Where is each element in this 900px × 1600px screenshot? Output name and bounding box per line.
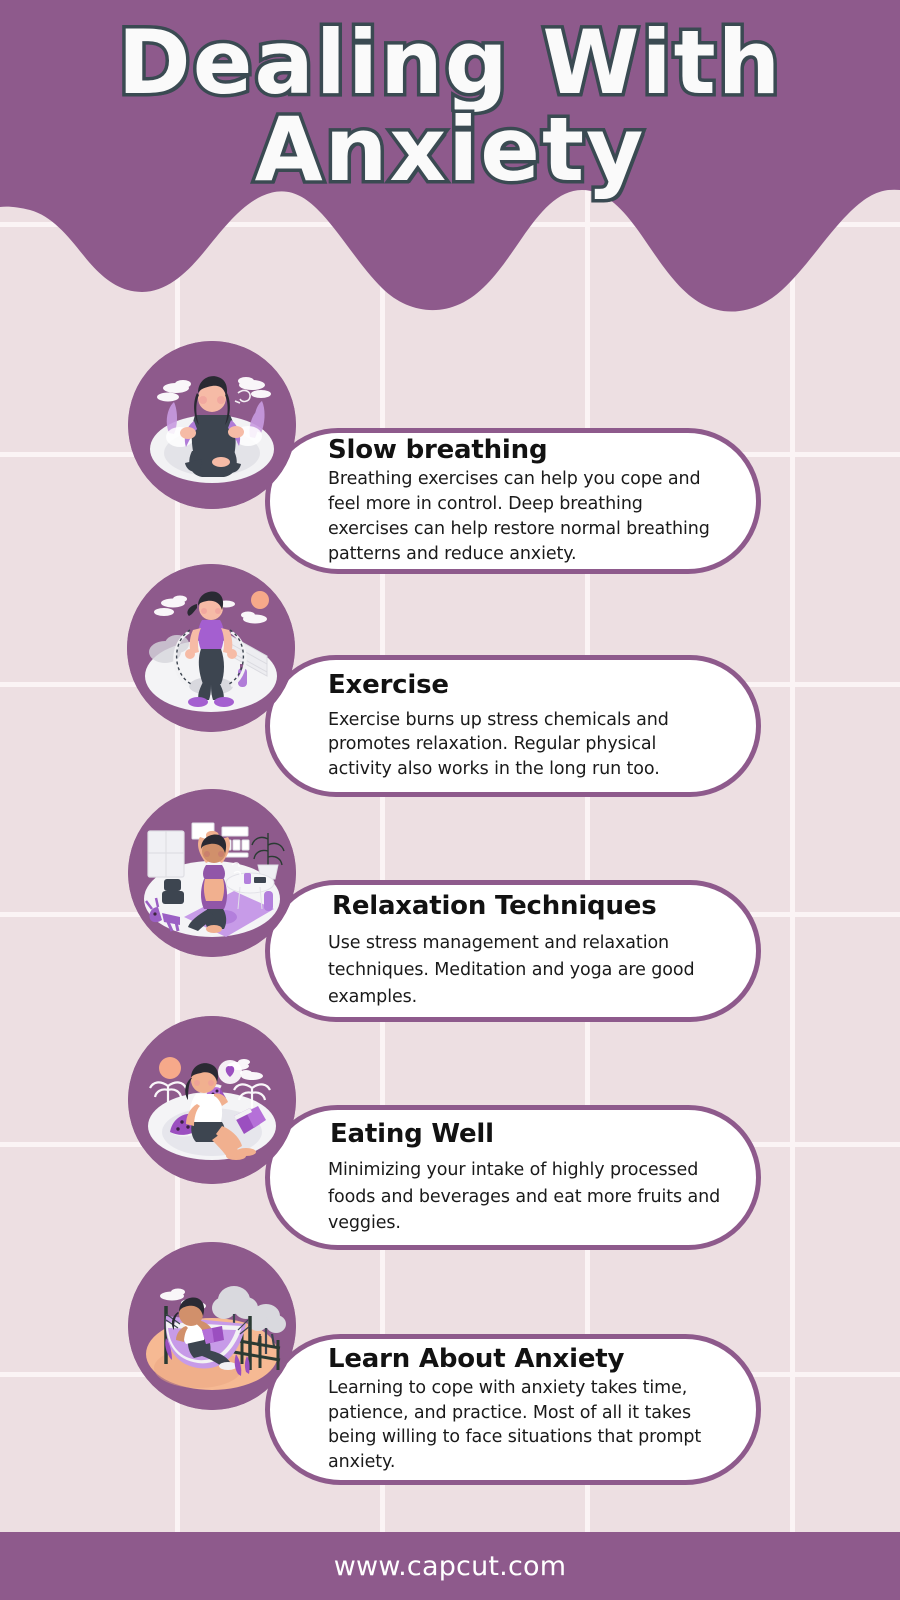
jump-rope-exercise-illustration [127, 564, 295, 732]
tip-card-4-title: Eating Well [330, 1119, 722, 1150]
footer-bar: www.capcut.com [0, 1532, 900, 1600]
tip-card-4-body: Minimizing your intake of highly process… [328, 1157, 722, 1236]
tip-card-4[interactable]: Eating Well Minimizing your intake of hi… [265, 1105, 761, 1250]
meditation-breathing-icon [128, 341, 296, 509]
reading-in-hammock-illustration [128, 1242, 296, 1410]
infographic-poster: Dealing With Anxiety [0, 0, 900, 1600]
jump-rope-exercise-icon [127, 564, 295, 732]
tip-card-5[interactable]: Learn About Anxiety Learning to cope wit… [265, 1334, 761, 1485]
tip-card-5-title: Learn About Anxiety [328, 1344, 722, 1375]
tip-card-2[interactable]: Exercise Exercise burns up stress chemic… [265, 655, 761, 797]
tip-card-1[interactable]: Slow breathing Breathing exercises can h… [265, 428, 761, 574]
tip-card-2-title: Exercise [328, 670, 722, 701]
eating-watermelon-icon [128, 1016, 296, 1184]
tip-card-1-body: Breathing exercises can help you cope an… [328, 467, 722, 566]
header-banner: Dealing With Anxiety [0, 0, 900, 330]
header-wave-shape [0, 0, 900, 330]
tip-card-2-body: Exercise burns up stress chemicals and p… [328, 708, 722, 783]
yoga-pose-indoor-icon [128, 789, 296, 957]
footer-website-label[interactable]: www.capcut.com [334, 1551, 566, 1582]
yoga-pose-indoor-illustration [128, 789, 296, 957]
tip-card-3-title: Relaxation Techniques [332, 891, 722, 922]
reading-in-hammock-icon [128, 1242, 296, 1410]
eating-watermelon-illustration [128, 1016, 296, 1184]
tip-card-3-body: Use stress management and relaxation tec… [328, 930, 722, 1011]
meditation-breathing-illustration [128, 341, 296, 509]
tip-card-5-body: Learning to cope with anxiety takes time… [328, 1376, 722, 1475]
tip-card-3[interactable]: Relaxation Techniques Use stress managem… [265, 880, 761, 1022]
tip-card-1-title: Slow breathing [328, 435, 722, 466]
